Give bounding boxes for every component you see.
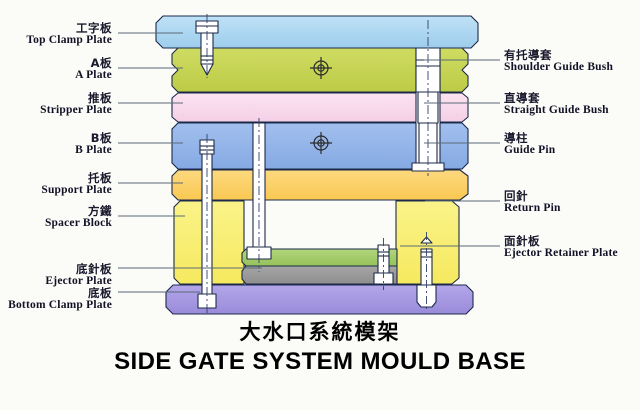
label-ejector-plate-cn: 底針板 <box>0 263 112 275</box>
page-title-chinese: 大水口系統模架 <box>0 316 640 346</box>
label-straight-guide-bush: 直導套 Straight Guide Bush <box>504 92 640 116</box>
label-b-plate-cn: B板 <box>0 132 112 144</box>
label-support-plate: 托板 Support Plate <box>0 172 112 196</box>
label-ejector-plate: 底針板 Ejector Plate <box>0 263 112 287</box>
label-ejector-retainer-plate-cn: 面針板 <box>504 235 640 247</box>
label-a-plate: A板 A Plate <box>0 57 112 81</box>
label-shoulder-guide-bush-en: Shoulder Guide Bush <box>504 61 640 73</box>
label-shoulder-guide-bush-cn: 有托導套 <box>504 49 640 61</box>
label-b-plate-en: B Plate <box>0 144 112 156</box>
label-straight-guide-bush-en: Straight Guide Bush <box>504 104 640 116</box>
label-a-plate-cn: A板 <box>0 57 112 69</box>
label-bottom-clamp-plate-en: Bottom Clamp Plate <box>0 299 112 311</box>
label-spacer-block-en: Spacer Block <box>0 217 112 229</box>
label-guide-pin-en: Guide Pin <box>504 144 640 156</box>
plate-support-plate <box>172 170 468 200</box>
label-straight-guide-bush-cn: 直導套 <box>504 92 640 104</box>
label-stripper-plate-cn: 推板 <box>0 92 112 104</box>
label-return-pin-en: Return Pin <box>504 202 640 214</box>
label-bottom-clamp-plate-cn: 底板 <box>0 287 112 299</box>
label-a-plate-en: A Plate <box>0 69 112 81</box>
page-title-english: SIDE GATE SYSTEM MOULD BASE <box>0 348 640 376</box>
label-ejector-retainer-plate: 面針板 Ejector Retainer Plate <box>504 235 640 259</box>
label-top-clamp-plate-cn: 工字板 <box>0 22 112 34</box>
label-return-pin-cn: 回針 <box>504 190 640 202</box>
label-b-plate: B板 B Plate <box>0 132 112 156</box>
page-title: 大水口系統模架 SIDE GATE SYSTEM MOULD BASE <box>0 316 640 376</box>
label-guide-pin: 導柱 Guide Pin <box>504 132 640 156</box>
label-guide-pin-cn: 導柱 <box>504 132 640 144</box>
plate-stripper-plate <box>172 93 416 122</box>
label-ejector-retainer-plate-en: Ejector Retainer Plate <box>504 247 640 259</box>
plate-b-plate-right <box>440 123 468 169</box>
label-stripper-plate-en: Stripper Plate <box>0 104 112 116</box>
label-spacer-block: 方鐵 Spacer Block <box>0 205 112 229</box>
plate-stripper-plate-right <box>440 93 468 122</box>
label-return-pin: 回針 Return Pin <box>504 190 640 214</box>
label-spacer-block-cn: 方鐵 <box>0 205 112 217</box>
label-bottom-clamp-plate: 底板 Bottom Clamp Plate <box>0 287 112 311</box>
label-stripper-plate: 推板 Stripper Plate <box>0 92 112 116</box>
plate-a-plate-right <box>440 48 468 92</box>
label-top-clamp-plate-en: Top Clamp Plate <box>0 34 112 46</box>
label-support-plate-cn: 托板 <box>0 172 112 184</box>
label-support-plate-en: Support Plate <box>0 184 112 196</box>
label-top-clamp-plate: 工字板 Top Clamp Plate <box>0 22 112 46</box>
diagram-page: 工字板 Top Clamp Plate A板 A Plate 推板 Stripp… <box>0 0 640 410</box>
label-shoulder-guide-bush: 有托導套 Shoulder Guide Bush <box>504 49 640 73</box>
